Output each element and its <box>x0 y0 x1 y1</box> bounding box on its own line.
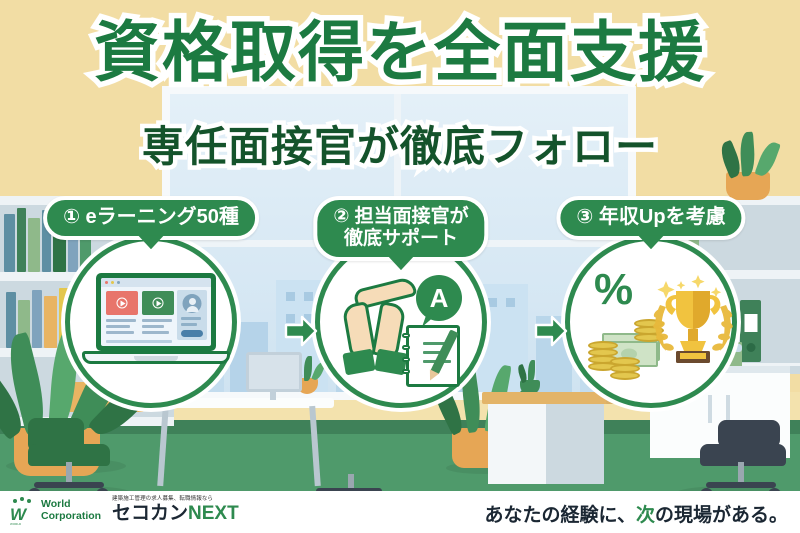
money-trophy-icon: % <box>570 241 732 403</box>
step-1-label: ① eラーニング50種 <box>63 206 239 229</box>
subheadline: 専任面接官が徹底フォロー <box>0 124 800 170</box>
speech-bubble-a: A <box>416 275 462 321</box>
laptop-elearning-icon <box>70 241 232 403</box>
step-1: ① eラーニング50種 <box>28 196 274 411</box>
company-name-line2: Corporation <box>41 511 101 523</box>
laptop-base <box>82 351 230 364</box>
service-name-jp: セコカン <box>112 503 188 524</box>
service-name: セコカンNEXT <box>112 504 239 525</box>
mark-caption: WORLD <box>10 522 21 526</box>
step-2-label-line2: 徹底サポート <box>333 228 468 250</box>
step-2-badge: ② 担当面接官が 徹底サポート <box>313 196 488 261</box>
world-corporation-name: World Corporation <box>41 499 101 523</box>
service-name-en: NEXT <box>188 503 239 524</box>
arrow-right-icon-2 <box>534 314 568 348</box>
step-1-badge: ① eラーニング50種 <box>43 196 259 240</box>
step-3-badge: ③ 年収Upを考慮 <box>556 196 745 240</box>
percent-symbol: % <box>594 265 633 315</box>
step-3: ③ 年収Upを考慮 % <box>528 196 774 411</box>
step-3-circle: % <box>565 236 737 408</box>
steps-row: ① eラーニング50種 <box>0 196 800 411</box>
laptop-screen <box>96 273 216 351</box>
tagline-post: の現場がある。 <box>655 505 788 526</box>
headline: 資格取得を全面支援 <box>0 18 800 88</box>
service-tagline-small: 建築施工管理の求人募集、転職情報なら <box>112 495 270 503</box>
step-2: ② 担当面接官が 徹底サポート A <box>278 196 524 411</box>
world-corporation-mark-icon: W WORLD <box>10 498 36 524</box>
bubble-letter: A <box>416 275 462 321</box>
footer-tagline: あなたの経験に、次の現場がある。 <box>485 500 788 527</box>
footer-bar: W WORLD World Corporation 建築施工管理の求人募集、転職… <box>0 491 800 533</box>
step-3-label: ③ 年収Upを考慮 <box>576 206 725 229</box>
world-corporation-logo[interactable]: W WORLD World Corporation <box>10 498 101 524</box>
sekokan-next-logo[interactable]: 建築施工管理の求人募集、転職情報なら セコカンNEXT <box>112 495 239 525</box>
promotional-banner: 資格取得を全面支援 専任面接官が徹底フォロー ① eラーニング50種 <box>0 0 800 533</box>
step-2-label-line1: ② 担当面接官が <box>333 206 468 228</box>
step-1-circle <box>65 236 237 408</box>
arrow-right-icon-1 <box>284 314 318 348</box>
tagline-pre: あなたの経験に、 <box>485 505 636 526</box>
sleeve-left <box>342 349 375 376</box>
tagline-highlight: 次 <box>636 505 655 526</box>
